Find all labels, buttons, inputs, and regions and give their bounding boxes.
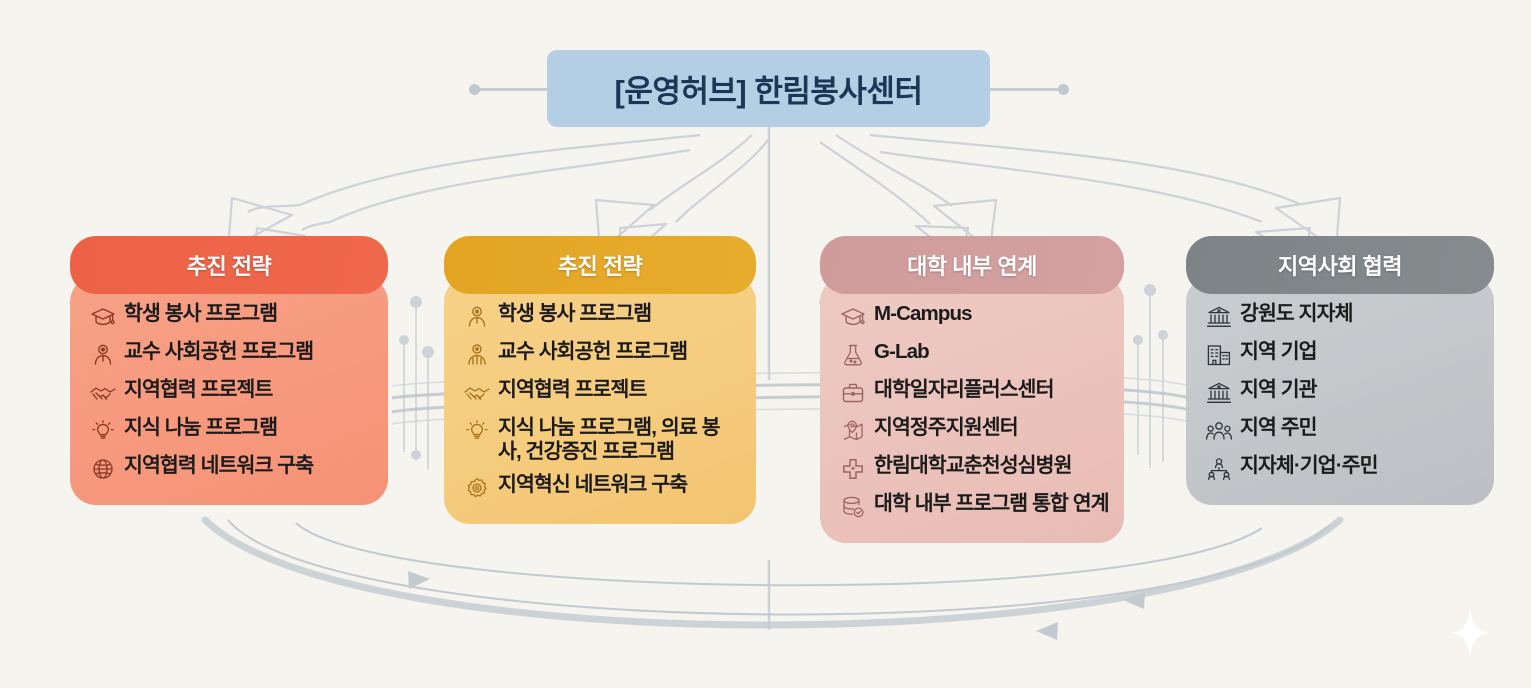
card-university-title: 대학 내부 연계 [907, 249, 1037, 281]
list-item[interactable]: 지역협력 프로젝트 [460, 378, 742, 407]
list-item-label: 교수 사회공헌 프로그램 [124, 340, 313, 364]
list-item-label: 지역정주지원센터 [874, 416, 1018, 440]
list-item[interactable]: G-Lab [836, 340, 1110, 369]
list-item-label: 지역 기업 [1240, 340, 1317, 364]
flask-icon [836, 341, 870, 369]
graduation-cap-icon [86, 303, 120, 331]
list-item[interactable]: 지역혁신 네트워크 구축 [460, 473, 742, 502]
list-item-label: 지역혁신 네트워크 구축 [498, 473, 687, 497]
network-icon [1202, 455, 1236, 483]
people-group-icon [1202, 417, 1236, 445]
list-item[interactable]: 교수 사회공헌 프로그램 [460, 340, 742, 369]
list-item[interactable]: 지식 나눔 프로그램 [86, 416, 374, 445]
bottom-thick-arc [205, 520, 1340, 625]
card-community-body: 강원도 지자체 지역 기업 [1186, 276, 1494, 505]
list-item[interactable]: M-Campus [836, 302, 1110, 331]
list-item-label: 교수 사회공헌 프로그램 [498, 340, 687, 364]
list-item-label: 지역 주민 [1240, 416, 1317, 440]
list-item[interactable]: 지역협력 네트워크 구축 [86, 454, 374, 483]
globe-icon [86, 455, 120, 483]
list-item[interactable]: 지역정주지원센터 [836, 416, 1110, 445]
list-item-label: 지역협력 네트워크 구축 [124, 454, 313, 478]
list-item[interactable]: 지자체·기업·주민 [1202, 454, 1480, 483]
bank-icon [1202, 379, 1236, 407]
card-strategy-2-title: 추진 전략 [558, 249, 643, 281]
list-item-label: 학생 봉사 프로그램 [498, 302, 651, 326]
briefcase-icon [836, 379, 870, 407]
handshake-icon [460, 379, 494, 407]
lightbulb-icon [86, 417, 120, 445]
bottom-arrowheads [408, 571, 1145, 640]
hub-title: [운영허브] 한림봉사센터 [615, 66, 923, 111]
list-item-label: 지역협력 프로젝트 [124, 378, 272, 402]
list-item[interactable]: 교수 사회공헌 프로그램 [86, 340, 374, 369]
list-item-label: 학생 봉사 프로그램 [124, 302, 277, 326]
map-pin-icon [836, 417, 870, 445]
diagram-canvas: [운영허브] 한림봉사센터 추진 전략 학생 봉사 프로그램 [0, 0, 1531, 688]
list-item[interactable]: 한림대학교춘천성심병원 [836, 454, 1110, 483]
list-item[interactable]: 학생 봉사 프로그램 [86, 302, 374, 331]
list-item-label: 한림대학교춘천성심병원 [874, 454, 1072, 478]
card-strategy-1-title: 추진 전략 [187, 249, 272, 281]
hub-stem-left [474, 88, 550, 91]
list-item[interactable]: 대학 내부 프로그램 통합 연계 [836, 492, 1110, 521]
list-item[interactable]: 지역 주민 [1202, 416, 1480, 445]
gear-icon [460, 474, 494, 502]
list-item[interactable]: 강원도 지자체 [1202, 302, 1480, 331]
bottom-thin-arcs [228, 520, 1330, 614]
card-strategy-2-body: 학생 봉사 프로그램 교수 사회공헌 프로그램 [444, 276, 756, 524]
graduation-cap-icon [836, 303, 870, 331]
card-community-title: 지역사회 협력 [1278, 249, 1402, 281]
office-building-icon [1202, 341, 1236, 369]
list-item-label: 지역협력 프로젝트 [498, 378, 646, 402]
list-item[interactable]: 학생 봉사 프로그램 [460, 302, 742, 331]
list-item-label: G-Lab [874, 340, 929, 364]
person-icon [460, 303, 494, 331]
card-strategy-2[interactable]: 추진 전략 학생 봉사 프로그램 [444, 236, 756, 524]
bank-icon [1202, 303, 1236, 331]
card-strategy-2-header: 추진 전략 [444, 236, 756, 294]
list-item-label: 대학 내부 프로그램 통합 연계 [874, 492, 1109, 516]
sparkle-icon [1449, 607, 1491, 659]
card-strategy-1-header: 추진 전략 [70, 236, 388, 294]
list-item-label: 대학일자리플러스센터 [874, 378, 1054, 402]
hub-dot-right [1058, 84, 1069, 95]
list-item-label: 강원도 지자체 [1240, 302, 1353, 326]
medical-cross-icon [836, 455, 870, 483]
card-university[interactable]: 대학 내부 연계 M-Campus [820, 236, 1124, 543]
card-community[interactable]: 지역사회 협력 강원도 지자체 [1186, 236, 1494, 505]
card-university-header: 대학 내부 연계 [820, 236, 1124, 294]
card-strategy-1-body: 학생 봉사 프로그램 교수 사회공헌 프로그램 [70, 276, 388, 505]
list-item[interactable]: 지역 기관 [1202, 378, 1480, 407]
list-item-label: M-Campus [874, 302, 972, 326]
hub-dot-left [469, 84, 480, 95]
list-item-label: 지자체·기업·주민 [1240, 454, 1378, 478]
person-icon [86, 341, 120, 369]
card-university-body: M-Campus G-Lab [820, 276, 1124, 543]
card-community-header: 지역사회 협력 [1186, 236, 1494, 294]
hub-node[interactable]: [운영허브] 한림봉사센터 [547, 50, 990, 127]
card-strategy-1[interactable]: 추진 전략 학생 봉사 프로그램 [70, 236, 388, 505]
list-item[interactable]: 대학일자리플러스센터 [836, 378, 1110, 407]
handshake-icon [86, 379, 120, 407]
list-item[interactable]: 지식 나눔 프로그램, 의료 봉사, 건강증진 프로그램 [460, 416, 742, 464]
list-item-label: 지역 기관 [1240, 378, 1317, 402]
hub-to-card-arrows [228, 135, 1340, 263]
people-icon [460, 341, 494, 369]
database-icon [836, 493, 870, 521]
list-item-label: 지식 나눔 프로그램 [124, 416, 277, 440]
list-item[interactable]: 지역협력 프로젝트 [86, 378, 374, 407]
list-item[interactable]: 지역 기업 [1202, 340, 1480, 369]
hub-stem-right [987, 88, 1063, 91]
list-item-label: 지식 나눔 프로그램, 의료 봉사, 건강증진 프로그램 [498, 416, 742, 464]
lightbulb-icon [460, 417, 494, 445]
